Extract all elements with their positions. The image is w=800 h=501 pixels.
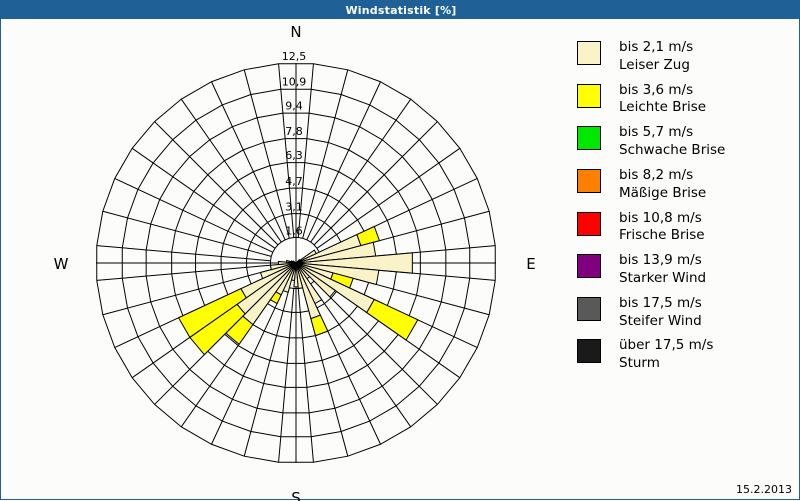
- radial-tick-label: 12,5: [282, 50, 307, 63]
- grid-spoke: [97, 246, 271, 261]
- wind-statistics-window: Windstatistik [%] 1,63,14,76,37,89,410,9…: [0, 0, 800, 500]
- radial-tick-label: 3,1: [285, 200, 303, 213]
- grid-spoke: [279, 289, 294, 463]
- legend-item: über 17,5 m/sSturm: [577, 337, 793, 373]
- legend-beaufort-name: Leiser Zug: [619, 57, 693, 75]
- grid-spoke: [97, 265, 271, 280]
- legend-item: bis 17,5 m/sSteifer Wind: [577, 295, 793, 331]
- legend-label: über 17,5 m/sSturm: [619, 337, 713, 373]
- legend-label: bis 3,6 m/sLeichte Brise: [619, 82, 706, 118]
- legend-color-swatch: [577, 297, 601, 321]
- grid-spoke: [314, 122, 437, 245]
- legend-beaufort-name: Leichte Brise: [619, 99, 706, 117]
- grid-spoke: [314, 281, 437, 404]
- legend-beaufort-name: Sturm: [619, 355, 713, 373]
- legend-label: bis 17,5 m/sSteifer Wind: [619, 295, 702, 331]
- wind-rose-plot: 1,63,14,76,37,89,410,912,5NESW: [1, 19, 567, 501]
- legend-speed-range: über 17,5 m/s: [619, 337, 713, 353]
- date-stamp: 15.2.2013: [736, 483, 792, 496]
- radial-tick-label: 10,9: [282, 76, 307, 89]
- grid-spoke: [115, 178, 273, 252]
- legend-color-swatch: [577, 169, 601, 193]
- wind-petal: [357, 226, 380, 245]
- legend-speed-range: bis 2,1 m/s: [619, 39, 693, 55]
- legend-beaufort-name: Frische Brise: [619, 227, 705, 245]
- grid-spoke: [244, 70, 289, 238]
- grid-spoke: [181, 99, 281, 242]
- compass-label-east: E: [526, 255, 535, 273]
- grid-spoke: [317, 148, 460, 248]
- compass-label-north: N: [290, 23, 301, 41]
- grid-spoke: [155, 122, 278, 245]
- legend: bis 2,1 m/sLeiser Zugbis 3,6 m/sLeichte …: [577, 39, 793, 380]
- legend-speed-range: bis 17,5 m/s: [619, 295, 702, 311]
- legend-item: bis 8,2 m/sMäßige Brise: [577, 167, 793, 203]
- legend-color-swatch: [577, 126, 601, 150]
- grid-spoke: [311, 99, 411, 242]
- legend-color-swatch: [577, 254, 601, 278]
- grid-spoke: [303, 70, 348, 238]
- legend-color-swatch: [577, 41, 601, 65]
- radial-tick-label: 1,6: [285, 224, 303, 237]
- legend-item: bis 5,7 m/sSchwache Brise: [577, 124, 793, 160]
- legend-speed-range: bis 3,6 m/s: [619, 82, 693, 98]
- legend-item: bis 10,8 m/sFrische Brise: [577, 210, 793, 246]
- legend-label: bis 8,2 m/sMäßige Brise: [619, 167, 706, 203]
- wind-petal: [311, 315, 328, 335]
- grid-spoke: [103, 211, 271, 256]
- legend-speed-range: bis 8,2 m/s: [619, 167, 693, 183]
- compass-label-south: S: [291, 489, 301, 501]
- legend-item: bis 3,6 m/sLeichte Brise: [577, 82, 793, 118]
- wind-petal: [367, 300, 418, 341]
- legend-beaufort-name: Steifer Wind: [619, 313, 702, 331]
- legend-label: bis 5,7 m/sSchwache Brise: [619, 124, 725, 160]
- legend-speed-range: bis 10,8 m/s: [619, 210, 702, 226]
- legend-item: bis 13,9 m/sStarker Wind: [577, 252, 793, 288]
- grid-spoke: [132, 148, 275, 248]
- legend-label: bis 10,8 m/sFrische Brise: [619, 210, 705, 246]
- legend-beaufort-name: Schwache Brise: [619, 142, 725, 160]
- wind-rose-svg: 1,63,14,76,37,89,410,912,5NESW: [1, 19, 567, 501]
- radial-tick-label: 4,7: [285, 175, 303, 188]
- compass-label-west: W: [54, 255, 69, 273]
- window-title: Windstatistik [%]: [345, 4, 456, 17]
- radial-tick-label: 7,8: [285, 125, 303, 138]
- window-title-bar: Windstatistik [%]: [1, 1, 800, 19]
- legend-beaufort-name: Mäßige Brise: [619, 185, 706, 203]
- radial-tick-label: 9,4: [285, 100, 303, 113]
- legend-color-swatch: [577, 339, 601, 363]
- legend-speed-range: bis 13,9 m/s: [619, 252, 702, 268]
- grid-spoke: [307, 82, 381, 240]
- legend-label: bis 13,9 m/sStarker Wind: [619, 252, 706, 288]
- legend-label: bis 2,1 m/sLeiser Zug: [619, 39, 693, 75]
- grid-spoke: [211, 82, 285, 240]
- legend-color-swatch: [577, 212, 601, 236]
- legend-color-swatch: [577, 84, 601, 108]
- legend-beaufort-name: Starker Wind: [619, 270, 706, 288]
- legend-speed-range: bis 5,7 m/s: [619, 124, 693, 140]
- legend-item: bis 2,1 m/sLeiser Zug: [577, 39, 793, 75]
- radial-tick-label: 6,3: [285, 149, 303, 162]
